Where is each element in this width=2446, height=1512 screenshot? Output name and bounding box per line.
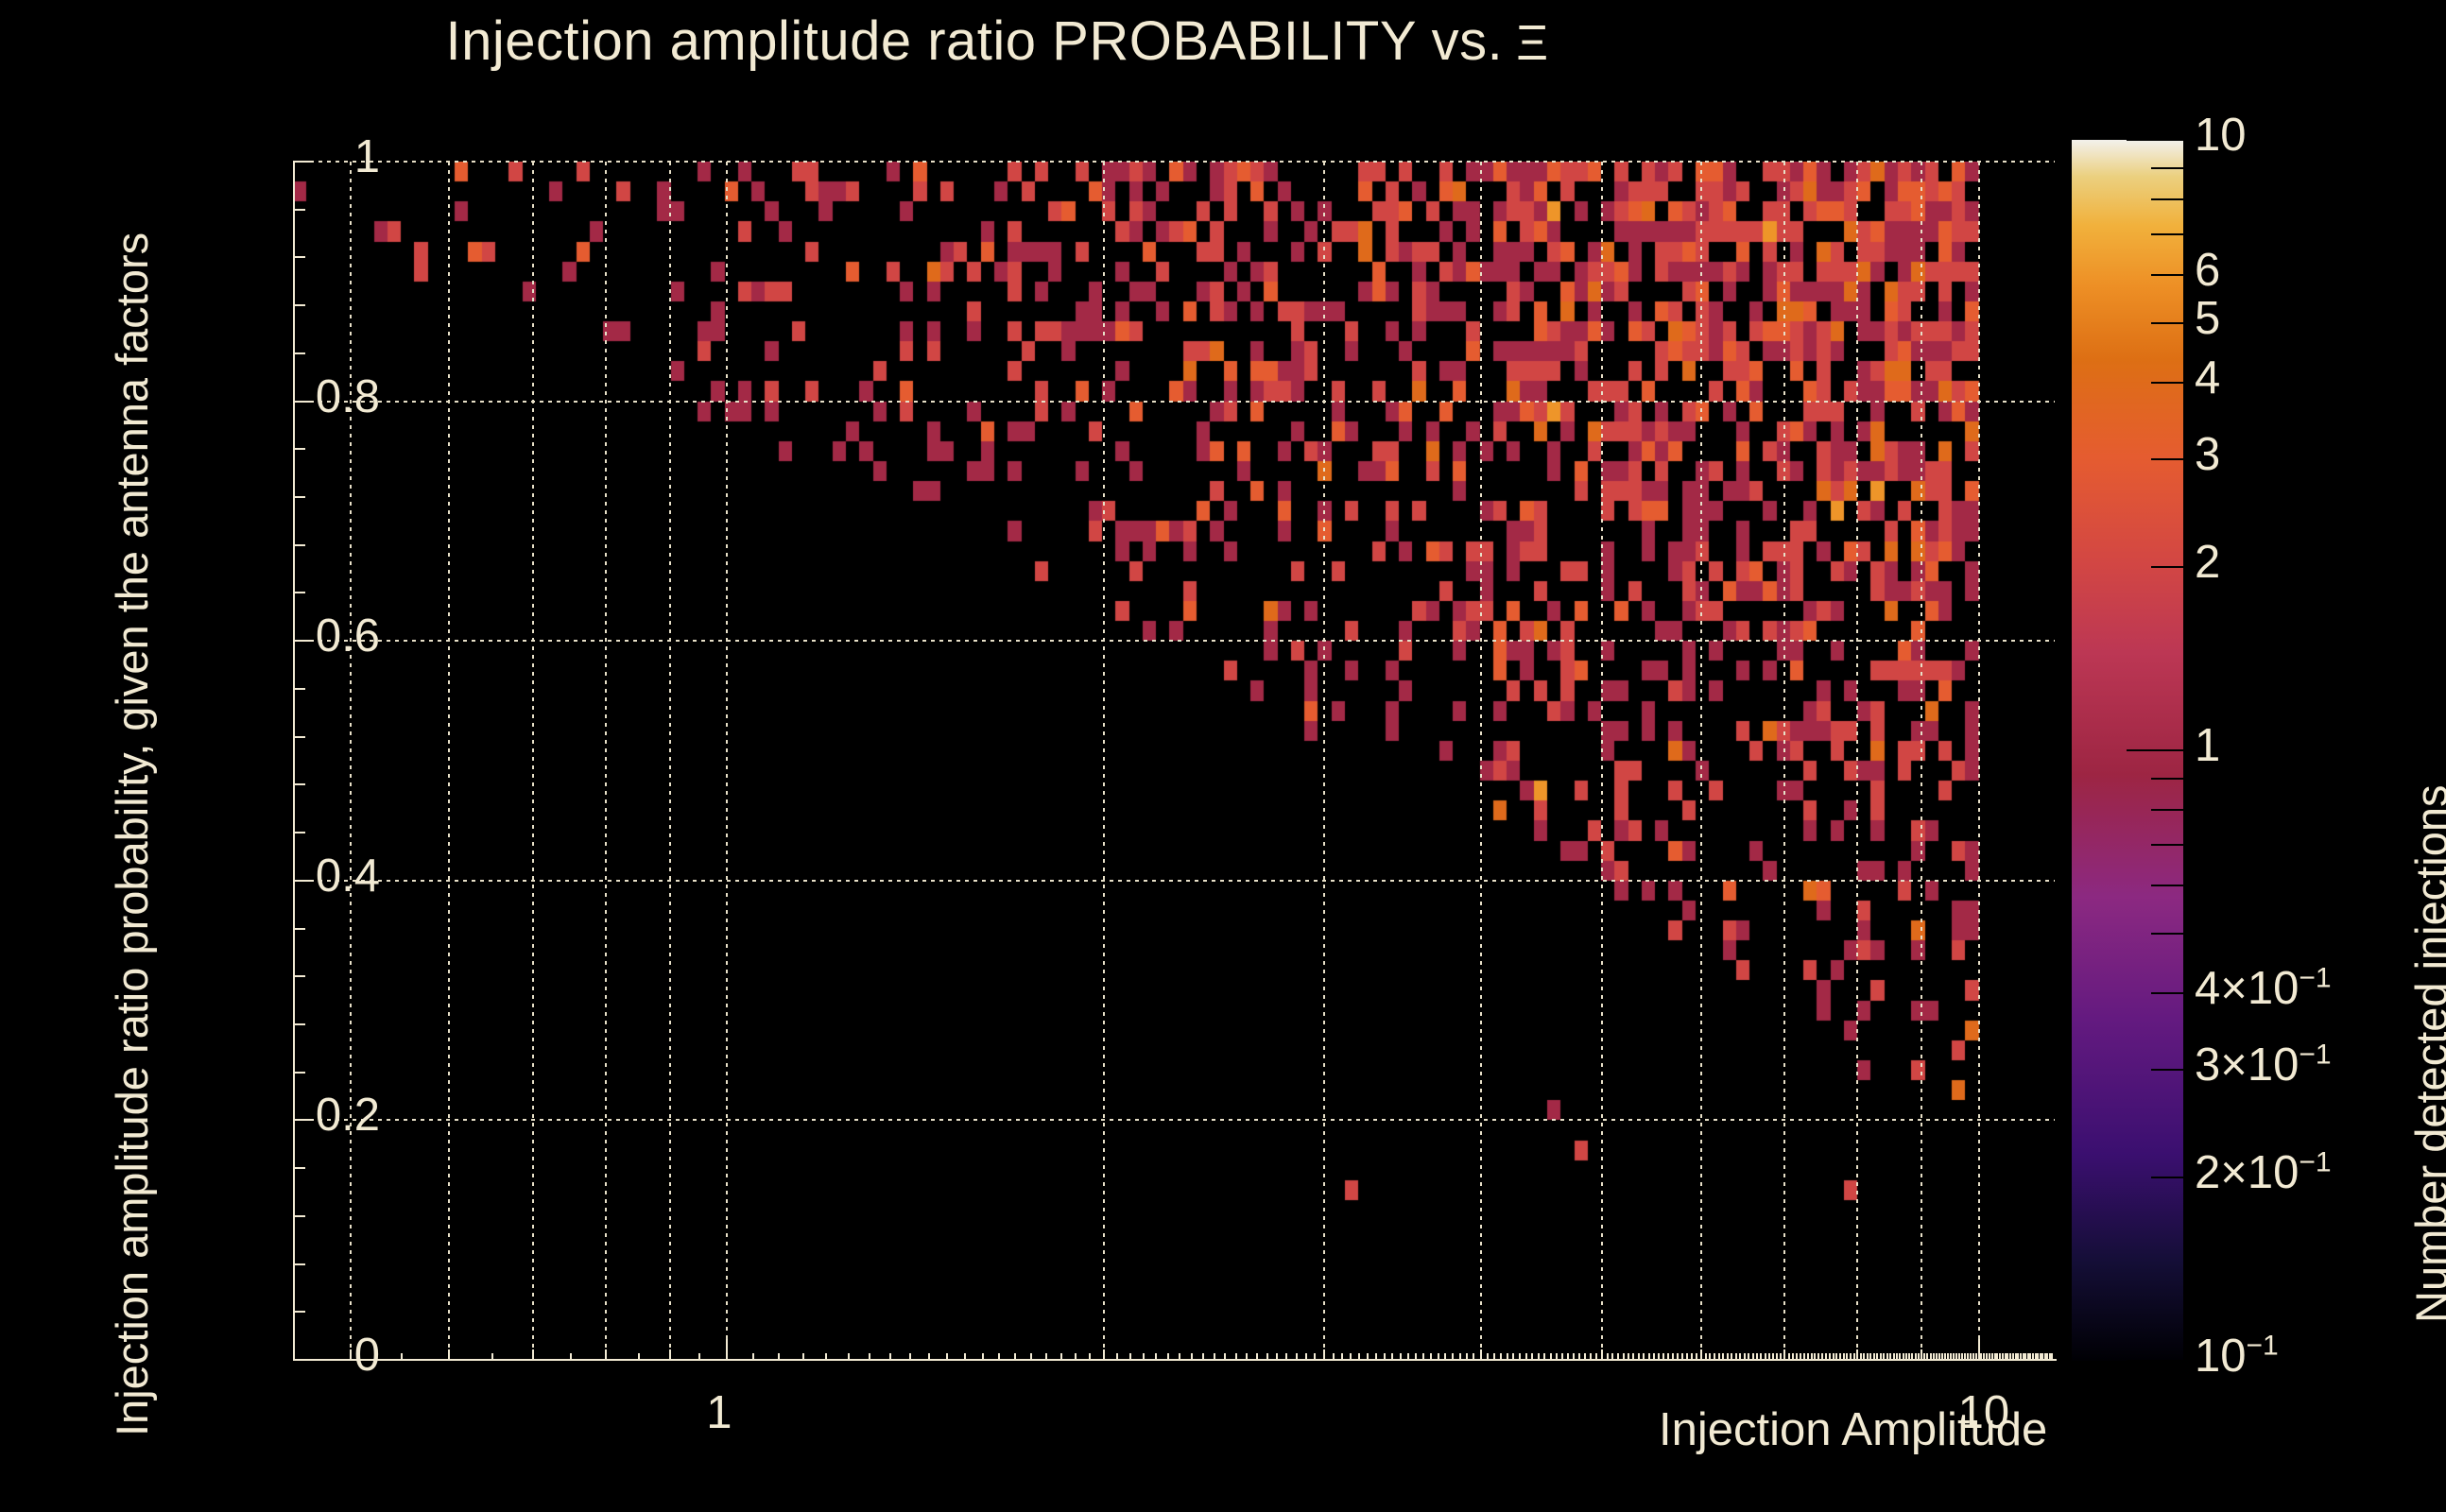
colorbar-tick-label: 10−1	[2195, 1330, 2279, 1383]
plot-root: Injection amplitude ratio PROBABILITY vs…	[0, 0, 2446, 1512]
y-tick-major	[293, 640, 314, 642]
gridline-vertical	[1323, 162, 1325, 1360]
colorbar-tick-label: 10	[2195, 109, 2247, 162]
y-tick-label: 0	[354, 1329, 380, 1382]
plot-area	[293, 162, 2055, 1360]
colorbar-tick	[2151, 167, 2183, 169]
y-tick-major	[293, 880, 314, 882]
y-tick-label: 0.2	[316, 1089, 380, 1142]
y-tick-major	[293, 401, 314, 403]
title-text: Injection amplitude ratio PROBABILITY vs…	[445, 10, 1503, 72]
y-axis-line	[293, 162, 295, 1361]
colorbar-tick	[2151, 274, 2183, 276]
x-tick-label: 1	[706, 1386, 732, 1439]
gridline-vertical	[1783, 162, 1785, 1360]
colorbar-tick	[2127, 749, 2183, 751]
colorbar-tick	[2151, 1177, 2183, 1178]
colorbar-tick	[2151, 198, 2183, 200]
colorbar-tick	[2151, 233, 2183, 235]
gridline-vertical	[726, 162, 728, 1360]
gridline-horizontal	[293, 640, 2055, 642]
gridline-vertical	[532, 162, 534, 1360]
gridline-vertical	[1103, 162, 1105, 1360]
colorbar-tick	[2127, 139, 2183, 141]
colorbar-tick-label: 6	[2195, 244, 2220, 297]
y-tick-major	[293, 1119, 314, 1121]
colorbar-tick-label: 3	[2195, 428, 2220, 481]
page-title: Injection amplitude ratio PROBABILITY vs…	[0, 9, 1994, 73]
gridline-vertical	[1856, 162, 1858, 1360]
colorbar-tick	[2151, 566, 2183, 568]
colorbar-tick-label: 3×10−1	[2195, 1039, 2332, 1091]
gridline-vertical	[350, 162, 352, 1360]
y-tick-major	[293, 161, 314, 163]
colorbar	[2072, 140, 2183, 1361]
colorbar-tick	[2151, 885, 2183, 886]
gridline-vertical	[605, 162, 607, 1360]
x-axis-title: Injection Amplitude	[1659, 1403, 2047, 1456]
gridline-horizontal	[293, 161, 2055, 163]
gridline-vertical	[1700, 162, 1702, 1360]
gridline-horizontal	[293, 1119, 2055, 1121]
gridline-vertical	[1978, 162, 1980, 1360]
gridline-horizontal	[293, 880, 2055, 882]
colorbar-tick-label: 5	[2195, 292, 2220, 345]
y-axis-title: Injection amplitude ratio probability, g…	[106, 0, 158, 1436]
y-tick-label: 0.8	[316, 370, 380, 423]
colorbar-tick	[2151, 322, 2183, 324]
gridline-vertical	[1921, 162, 1922, 1360]
colorbar-tick	[2151, 809, 2183, 811]
gridline-vertical	[669, 162, 671, 1360]
y-tick-label: 0.6	[316, 610, 380, 662]
colorbar-tick	[2151, 844, 2183, 846]
gridline-horizontal	[293, 401, 2055, 403]
colorbar-title: Number detected injections	[2405, 784, 2446, 1323]
colorbar-tick	[2151, 992, 2183, 994]
colorbar-tick-label: 1	[2195, 719, 2220, 772]
colorbar-tick-label: 2	[2195, 536, 2220, 589]
y-tick-label: 1	[354, 130, 380, 183]
y-tick-label: 0.4	[316, 850, 380, 902]
colorbar-tick	[2151, 1069, 2183, 1071]
x-axis-line	[293, 1359, 2057, 1361]
colorbar-tick	[2127, 1360, 2183, 1362]
colorbar-tick	[2151, 778, 2183, 780]
gridline-vertical	[448, 162, 450, 1360]
gridline-vertical	[1480, 162, 1482, 1360]
colorbar-tick	[2151, 933, 2183, 935]
gridline-vertical	[1601, 162, 1603, 1360]
colorbar-tick	[2151, 382, 2183, 384]
colorbar-tick-label: 4	[2195, 352, 2220, 404]
xi-symbol: Ξ	[1503, 16, 1548, 71]
colorbar-tick-label: 4×10−1	[2195, 962, 2332, 1015]
heatmap-canvas	[293, 162, 2055, 1360]
colorbar-tick-label: 2×10−1	[2195, 1146, 2332, 1199]
colorbar-tick	[2151, 458, 2183, 460]
